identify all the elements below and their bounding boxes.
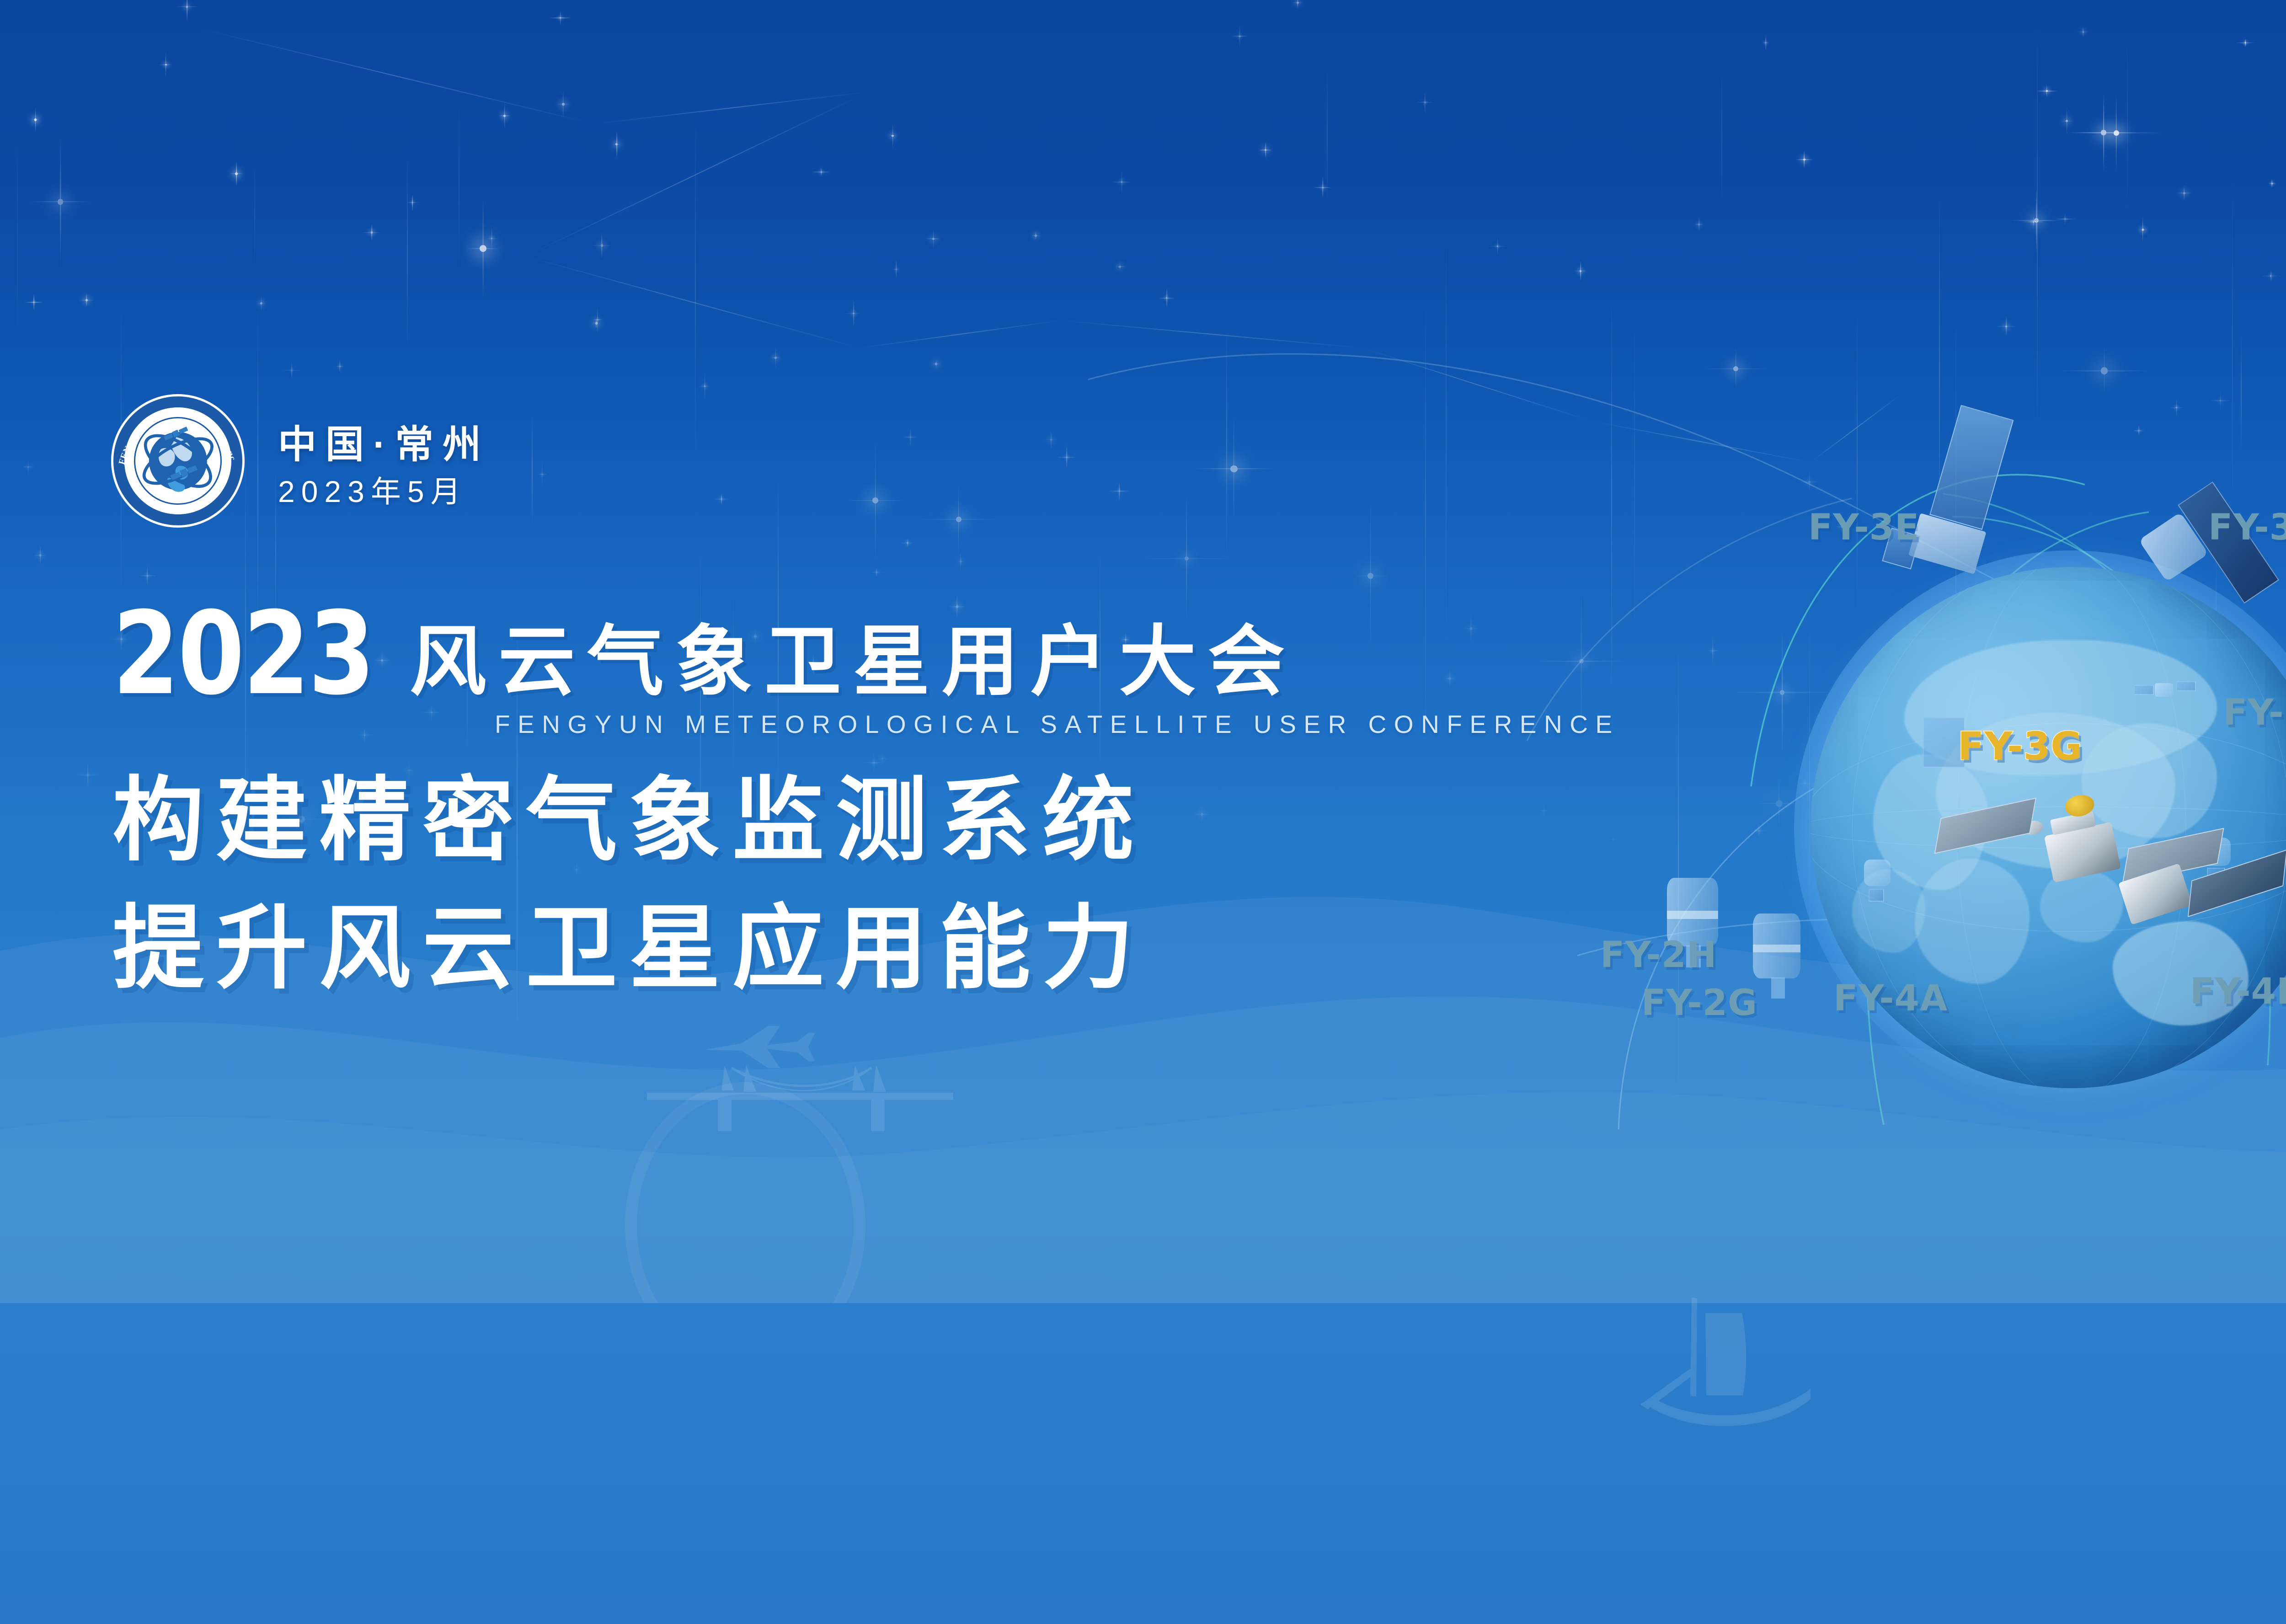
star — [853, 313, 854, 314]
star — [1050, 439, 1052, 441]
star-streak — [17, 131, 18, 342]
star-streak — [1446, 222, 1447, 648]
star — [87, 775, 88, 775]
star — [907, 542, 908, 544]
star — [2271, 183, 2272, 184]
star — [1066, 457, 1068, 458]
star — [2005, 326, 2008, 328]
conference-poster: FENGYUN Satellite User Conference Changz… — [0, 0, 2286, 1624]
star — [1166, 297, 1167, 299]
globe-satellite-icon-1 — [2134, 671, 2198, 708]
star — [704, 385, 705, 387]
star-streak — [1226, 327, 1227, 563]
location-date: 2023年5月 — [278, 476, 490, 507]
star-streak — [1721, 66, 1722, 208]
constellation-line — [1362, 347, 1591, 421]
star — [896, 269, 897, 270]
star — [932, 238, 935, 240]
star — [1698, 224, 1700, 225]
star — [615, 143, 618, 145]
location-block: 中国·常州 2023年5月 — [278, 425, 490, 507]
star-streak — [1634, 313, 1635, 642]
star — [491, 238, 492, 239]
star — [721, 498, 722, 500]
star — [1580, 270, 1581, 272]
star — [1425, 102, 1426, 103]
star — [364, 734, 366, 736]
headline-title-cn: 风云气象卫星用户大会 — [410, 623, 1297, 700]
headline-year: 2023 — [112, 606, 374, 702]
slogan-line-2: 提升风云卫星应用能力 — [112, 903, 1146, 994]
star — [2101, 367, 2108, 374]
star — [1367, 573, 1373, 579]
slogan-line-1: 构建精密气象监测系统 — [112, 775, 1146, 866]
star — [1765, 42, 1767, 43]
star — [1265, 149, 1267, 151]
emblem-globe-core — [134, 417, 222, 505]
star — [34, 118, 37, 121]
star — [2183, 192, 2185, 194]
star — [1119, 266, 1121, 268]
headline-title-en: FENGYUN METEOROLOGICAL SATELLITE USER CO… — [495, 710, 1620, 739]
star — [881, 758, 883, 759]
star — [291, 370, 292, 371]
star — [39, 554, 42, 556]
star — [147, 575, 148, 577]
star-streak — [2037, 19, 2038, 440]
star — [1758, 830, 1760, 832]
satellite-label-fy-4b: FY-4B — [2190, 974, 2286, 1010]
star — [2066, 120, 2068, 122]
star — [542, 474, 543, 475]
star — [1185, 556, 1189, 561]
satellite-label-fy-3e: FY-3E — [1808, 510, 1919, 545]
star — [560, 17, 561, 19]
airplane-silhouette — [700, 1020, 818, 1074]
star-streak — [1425, 279, 1426, 762]
star — [1808, 481, 1811, 483]
constellation-line — [594, 91, 869, 124]
star — [2083, 31, 2084, 33]
star-streak — [459, 103, 459, 277]
star — [27, 466, 29, 468]
star — [1780, 690, 1785, 695]
globe-satellite-icon-2 — [1852, 849, 1907, 908]
star — [2220, 400, 2221, 401]
satellite-label-fy-3g: FY-3G — [1958, 727, 2083, 765]
star — [956, 517, 961, 522]
star-streak — [532, 414, 533, 527]
star — [601, 244, 603, 246]
star — [1733, 366, 1738, 371]
constellation-line — [1061, 320, 1362, 348]
star — [2138, 430, 2139, 431]
satellite-label-fy-3d: FY-3D — [2223, 695, 2286, 731]
constellation-line — [860, 320, 1061, 348]
star — [2034, 218, 2039, 223]
sailboat-silhouette — [1628, 1285, 1820, 1449]
satellite-label-fy-4a: FY-4A — [1833, 981, 1948, 1016]
star — [2176, 407, 2177, 408]
star — [1035, 235, 1037, 237]
star-streak — [2127, 31, 2128, 213]
star — [1201, 813, 1203, 816]
star — [260, 302, 262, 304]
star — [2142, 229, 2144, 230]
star — [1448, 677, 1451, 680]
star — [1543, 810, 1544, 812]
star-streak — [254, 164, 255, 270]
star — [1322, 187, 1324, 188]
star — [371, 231, 373, 233]
constellation-line — [197, 27, 594, 124]
star — [85, 299, 88, 301]
star — [960, 561, 961, 562]
star — [1297, 2, 1298, 4]
star — [2114, 130, 2119, 136]
star-streak — [2241, 331, 2242, 450]
star — [1497, 246, 1498, 246]
star — [1121, 181, 1122, 182]
star — [2065, 219, 2066, 219]
star — [2245, 42, 2246, 43]
star — [33, 302, 34, 303]
star — [595, 322, 598, 324]
star-streak — [407, 156, 408, 348]
star — [431, 711, 433, 713]
headline: 2023 风云气象卫星用户大会 — [112, 606, 1297, 702]
constellation-line — [1591, 421, 1811, 462]
star — [892, 135, 893, 137]
star — [1119, 491, 1120, 491]
star — [935, 363, 937, 365]
star — [1803, 159, 1805, 161]
star — [480, 245, 486, 252]
star — [597, 319, 598, 320]
satellite-label-fy-2h: FY-2H — [1600, 937, 1717, 973]
star-streak — [695, 115, 696, 463]
satellite-label-fy-3c: FY-3C — [2208, 510, 2286, 545]
star — [2046, 90, 2048, 92]
star — [872, 497, 878, 503]
star — [2270, 275, 2271, 277]
star — [1230, 465, 1237, 472]
star — [1712, 650, 1714, 652]
constellation-line — [526, 256, 860, 348]
star — [1239, 36, 1240, 37]
location-city: 中国·常州 — [278, 425, 490, 464]
constellation-line — [526, 91, 869, 256]
star — [774, 357, 777, 359]
star — [503, 115, 506, 117]
star — [821, 171, 822, 173]
star — [1579, 659, 1584, 663]
star — [58, 199, 64, 205]
star — [1470, 627, 1472, 630]
star — [1776, 800, 1783, 807]
star-streak — [1327, 64, 1328, 206]
star — [165, 64, 167, 66]
star — [910, 437, 911, 438]
satellite-label-fy-2g: FY-2G — [1641, 985, 1757, 1021]
star — [412, 202, 413, 203]
star — [235, 172, 238, 175]
star — [873, 762, 875, 764]
star — [1613, 839, 1614, 840]
star — [2101, 130, 2106, 135]
star — [562, 103, 565, 106]
star — [186, 6, 188, 8]
star — [2033, 221, 2034, 223]
conference-emblem: FENGYUN Satellite User Conference Changz… — [111, 394, 245, 528]
star-streak — [1611, 285, 1612, 707]
star — [339, 366, 341, 367]
star — [876, 572, 877, 573]
constellation-line — [1811, 393, 1902, 462]
